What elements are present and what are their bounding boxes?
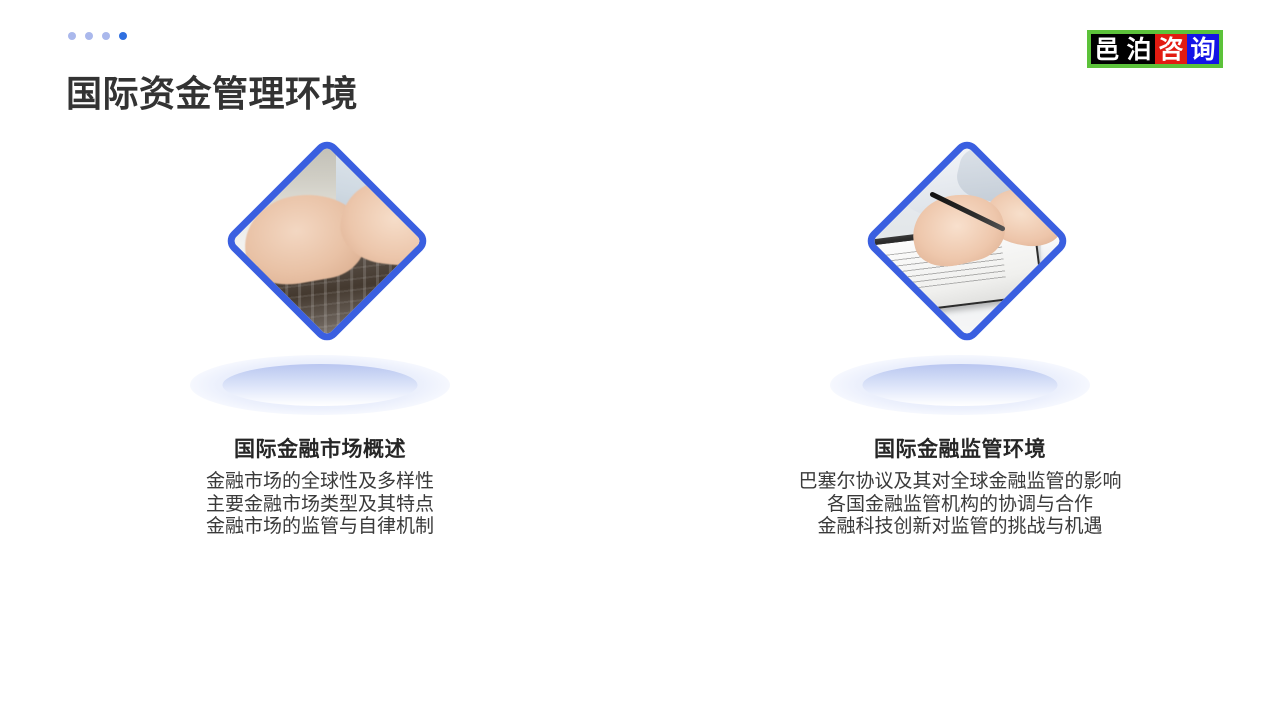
logo-char-3: 咨 [1155, 34, 1187, 64]
logo-char-4: 询 [1187, 34, 1219, 64]
card-1-description: 金融市场的全球性及多样性 主要金融市场类型及其特点 金融市场的监管与自律机制 [206, 471, 434, 539]
card-2-heading: 国际金融监管环境 [874, 436, 1046, 464]
card-2-visual [810, 150, 1110, 400]
decoration-dot-1 [68, 32, 76, 40]
hands-typing-on-keyboard-photo [222, 136, 431, 345]
logo-char-2: 泊 [1123, 34, 1155, 64]
card-1-heading: 国际金融市场概述 [234, 436, 406, 464]
decoration-dot-3 [102, 32, 110, 40]
slide-canvas: 国际资金管理环境 邑 泊 咨 询 [0, 0, 1280, 720]
card-1-line-3: 金融市场的监管与自律机制 [206, 516, 434, 539]
card-1-visual [170, 150, 470, 400]
card-1-line-1: 金融市场的全球性及多样性 [206, 471, 434, 494]
card-1-diamond-frame [222, 136, 431, 345]
card-2-description: 巴塞尔协议及其对全球金融监管的影响 各国金融监管机构的协调与合作 金融科技创新对… [798, 471, 1121, 539]
page-title: 国际资金管理环境 [66, 71, 358, 117]
brand-logo: 邑 泊 咨 询 [1087, 30, 1223, 68]
card-2-diamond-frame [862, 136, 1071, 345]
card-row: 国际金融市场概述 金融市场的全球性及多样性 主要金融市场类型及其特点 金融市场的… [0, 150, 1280, 539]
decoration-dot-4 [119, 32, 127, 40]
decoration-dot-2 [85, 32, 93, 40]
content-card-2: 国际金融监管环境 巴塞尔协议及其对全球金融监管的影响 各国金融监管机构的协调与合… [640, 150, 1280, 539]
content-card-1: 国际金融市场概述 金融市场的全球性及多样性 主要金融市场类型及其特点 金融市场的… [0, 150, 640, 539]
card-2-line-2: 各国金融监管机构的协调与合作 [798, 494, 1121, 517]
card-1-pedestal [223, 364, 418, 406]
card-2-line-3: 金融科技创新对监管的挑战与机遇 [798, 516, 1121, 539]
card-2-line-1: 巴塞尔协议及其对全球金融监管的影响 [798, 471, 1121, 494]
card-2-pedestal [863, 364, 1058, 406]
logo-char-1: 邑 [1091, 34, 1123, 64]
hand-writing-on-clipboard-photo [862, 136, 1071, 345]
slide-decoration-dots [68, 32, 127, 40]
card-1-line-2: 主要金融市场类型及其特点 [206, 494, 434, 517]
